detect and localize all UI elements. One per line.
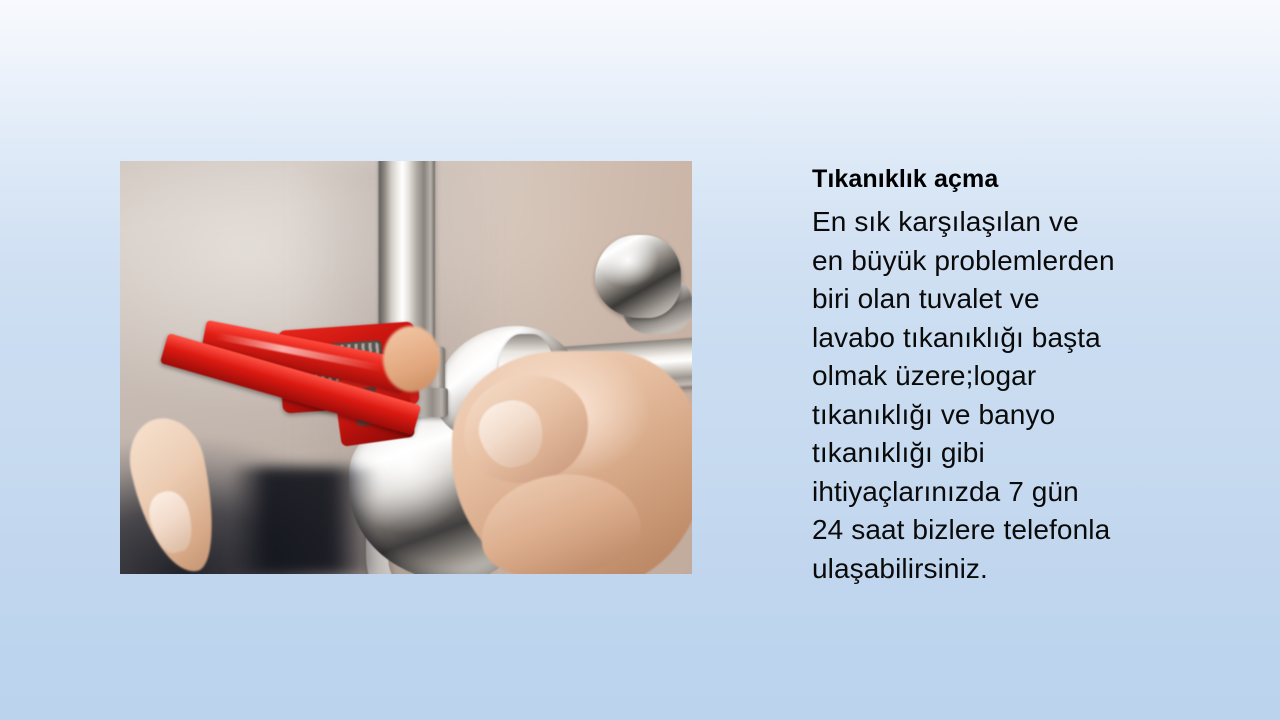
chrome-fitting-top-right <box>595 235 681 318</box>
headline-title: Tıkanıklık açma <box>812 163 1232 195</box>
plumbing-photo <box>120 161 692 574</box>
slide-canvas: Tıkanıklık açma En sık karşılaşılan ve e… <box>0 0 1280 720</box>
body-paragraph: En sık karşılaşılan ve en büyük probleml… <box>812 203 1232 588</box>
text-column: Tıkanıklık açma En sık karşılaşılan ve e… <box>812 163 1232 588</box>
photo-dark-strip <box>229 467 378 574</box>
